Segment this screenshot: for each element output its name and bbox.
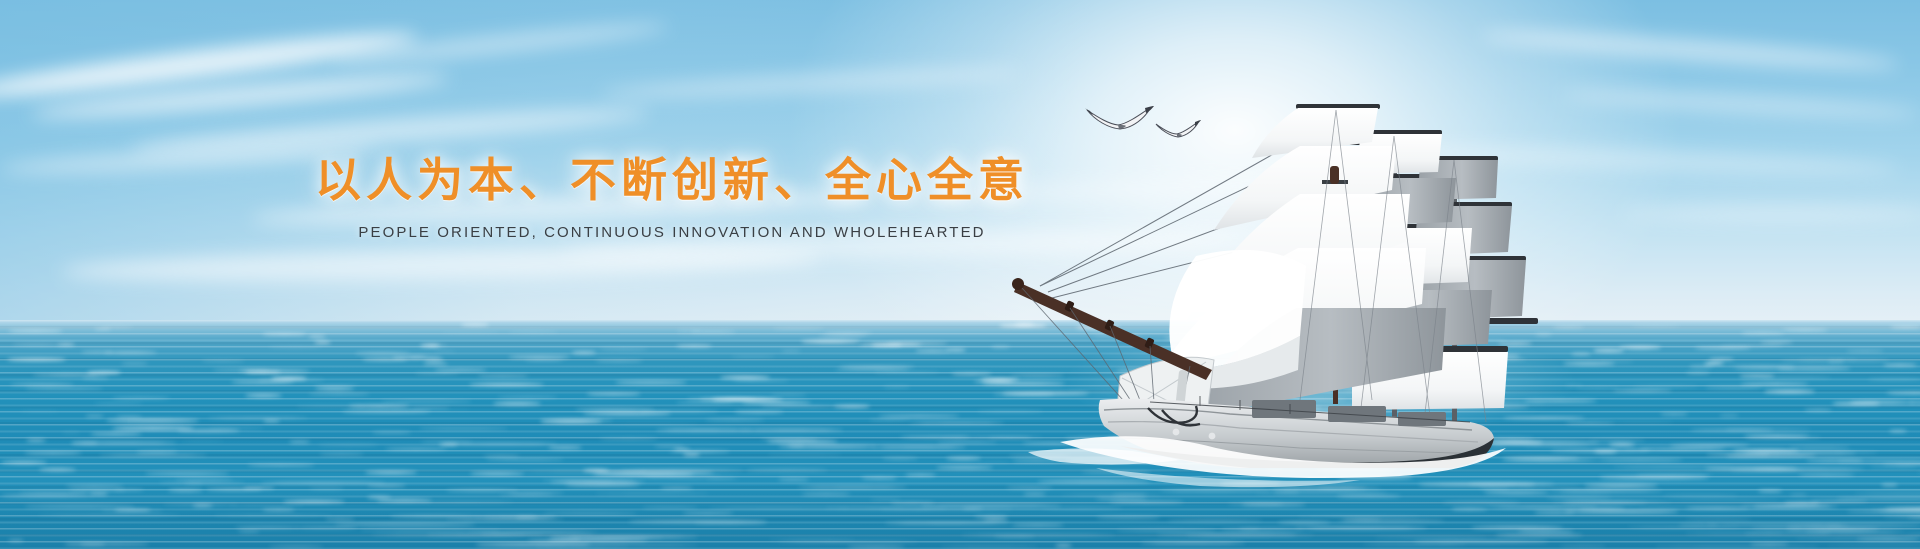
sailing-ship bbox=[1000, 70, 1540, 470]
cloud-wisp bbox=[1620, 206, 1920, 222]
page-subtitle: PEOPLE ORIENTED, CONTINUOUS INNOVATION A… bbox=[0, 224, 1344, 241]
hero-banner: 以人为本、不断创新、全心全意 PEOPLE ORIENTED, CONTINUO… bbox=[0, 0, 1920, 549]
page-title: 以人为本、不断创新、全心全意 bbox=[0, 157, 1344, 203]
